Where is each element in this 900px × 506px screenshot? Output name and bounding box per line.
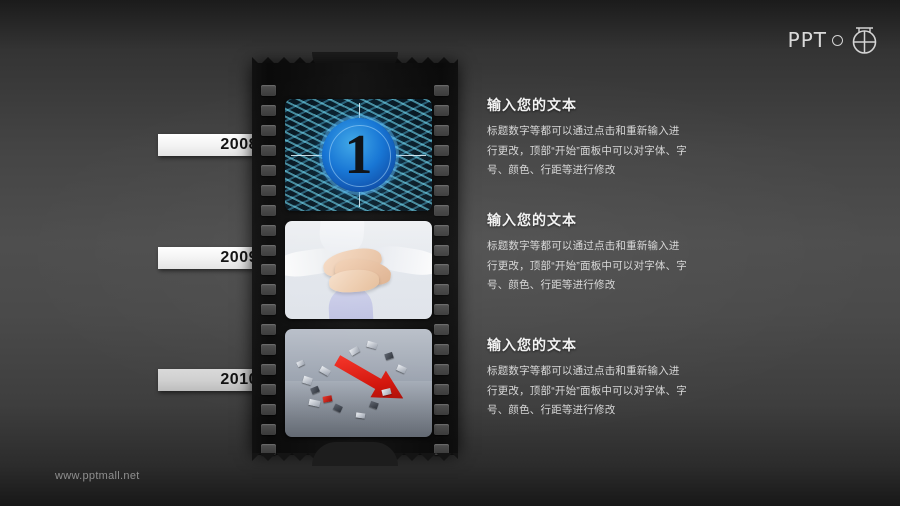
sprocket-hole	[261, 245, 276, 256]
sprocket-hole	[261, 105, 276, 116]
content-section-2: 输入您的文本 标题数字等都可以通过点击和重新输入进行更改，顶部“开始”面板中可以…	[487, 213, 687, 296]
sprocket-hole	[261, 404, 276, 415]
sprocket-hole	[434, 384, 449, 395]
debris-shard	[296, 360, 304, 368]
sprocket-hole	[261, 304, 276, 315]
brand-logo: PPT	[788, 24, 878, 56]
brand-logo-text: PPT	[788, 30, 827, 50]
content-section-3: 输入您的文本 标题数字等都可以通过点击和重新输入进行更改，顶部“开始”面板中可以…	[487, 338, 687, 421]
slide-canvas: PPT 2008 2009 2010	[0, 0, 900, 506]
sprocket-hole	[434, 424, 449, 435]
timeline-marker-body: 2008	[158, 134, 266, 156]
sprocket-hole	[434, 185, 449, 196]
sprocket-holes-left	[261, 85, 276, 455]
sprocket-hole	[434, 105, 449, 116]
film-bottom-notch	[312, 442, 398, 466]
sprocket-hole	[261, 284, 276, 295]
sprocket-hole	[261, 185, 276, 196]
section-body: 标题数字等都可以通过点击和重新输入进行更改，顶部“开始”面板中可以对字体、字号、…	[487, 362, 687, 420]
sprocket-hole	[261, 364, 276, 375]
sprocket-hole	[434, 364, 449, 375]
content-section-1: 输入您的文本 标题数字等都可以通过点击和重新输入进行更改，顶部“开始”面板中可以…	[487, 98, 687, 181]
sprocket-hole	[434, 284, 449, 295]
sprocket-hole	[261, 205, 276, 216]
circle-icon	[832, 35, 843, 46]
sprocket-hole	[434, 324, 449, 335]
debris-shard	[349, 347, 360, 357]
teamwork-hands-image	[285, 221, 432, 319]
sprocket-hole	[434, 344, 449, 355]
sprocket-hole	[261, 264, 276, 275]
film-strip: 1	[252, 52, 458, 466]
countdown-number: 1	[285, 127, 432, 183]
debris-shard	[367, 341, 378, 349]
sprocket-hole	[434, 404, 449, 415]
floor-gradient	[285, 381, 432, 437]
section-body: 标题数字等都可以通过点击和重新输入进行更改，顶部“开始”面板中可以对字体、字号、…	[487, 237, 687, 295]
sprocket-hole	[261, 344, 276, 355]
countdown-leader-image: 1	[285, 99, 432, 211]
sprocket-hole	[434, 125, 449, 136]
sprocket-hole	[261, 384, 276, 395]
sprocket-hole	[261, 165, 276, 176]
sprocket-hole	[434, 85, 449, 96]
sprocket-hole	[261, 424, 276, 435]
debris-shard	[396, 364, 407, 373]
sprocket-hole	[434, 264, 449, 275]
timeline-marker-body: 2010	[158, 369, 266, 391]
sprocket-hole	[434, 165, 449, 176]
film-frame-2[interactable]	[285, 221, 432, 319]
sprocket-holes-right	[434, 85, 449, 455]
sprocket-hole	[261, 145, 276, 156]
section-title: 输入您的文本	[487, 213, 687, 228]
sprocket-hole	[261, 324, 276, 335]
sprocket-hole	[261, 125, 276, 136]
sprocket-hole	[434, 245, 449, 256]
section-title: 输入您的文本	[487, 338, 687, 353]
sprocket-hole	[261, 225, 276, 236]
section-title: 输入您的文本	[487, 98, 687, 113]
sprocket-hole	[434, 145, 449, 156]
film-frame-1[interactable]: 1	[285, 99, 432, 211]
film-frame-3[interactable]	[285, 329, 432, 437]
sprocket-hole	[434, 304, 449, 315]
sprocket-hole	[434, 205, 449, 216]
section-body: 标题数字等都可以通过点击和重新输入进行更改，顶部“开始”面板中可以对字体、字号、…	[487, 122, 687, 180]
breakthrough-arrow-image	[285, 329, 432, 437]
timeline-marker-body: 2009	[158, 247, 266, 269]
crosshair-globe-icon	[848, 24, 878, 56]
debris-shard	[319, 366, 331, 376]
film-body: 1	[252, 63, 458, 455]
debris-shard	[384, 352, 393, 360]
sprocket-hole	[434, 225, 449, 236]
sprocket-hole	[261, 85, 276, 96]
footer-url: www.pptmall.net	[55, 470, 140, 482]
